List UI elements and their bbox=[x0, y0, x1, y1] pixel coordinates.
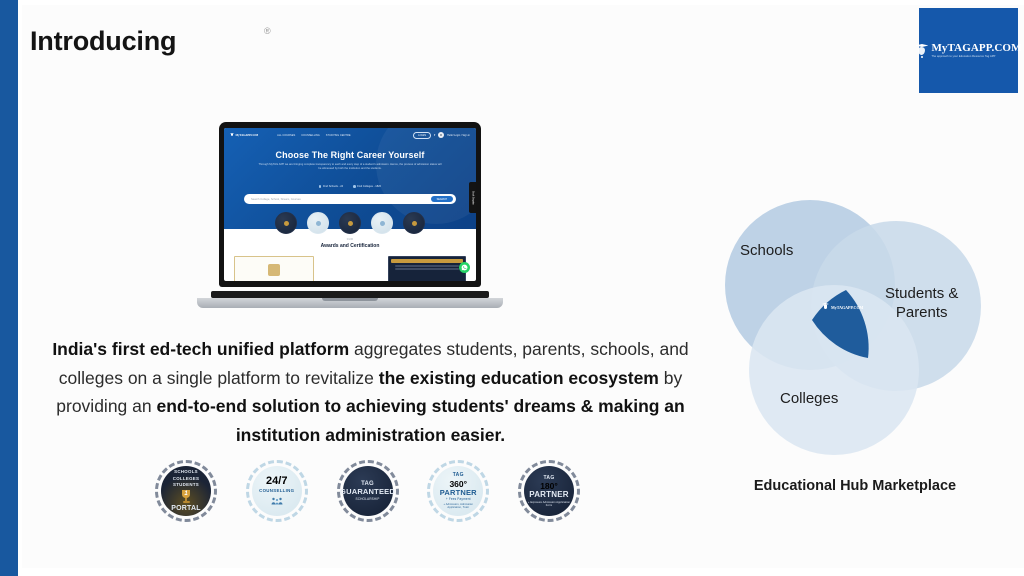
badge3-line3: SCHOLARSHIP bbox=[356, 498, 380, 502]
venn-label-students-parents: Students & Parents bbox=[885, 285, 958, 323]
website-cap-icon bbox=[230, 133, 234, 138]
login-button[interactable]: LOGIN bbox=[413, 132, 431, 139]
venn-graduation-cap-icon bbox=[822, 303, 829, 311]
counselling-people-icon bbox=[271, 496, 283, 506]
website-certificate-cards bbox=[234, 256, 466, 281]
website-badge-2 bbox=[307, 212, 329, 234]
website-awards-section: OUR Awards and Certification bbox=[224, 238, 476, 249]
user-greeting[interactable]: Hello! Login / Sign in bbox=[447, 134, 470, 137]
laptop-mockup: MyTAGAPP.COM ALL COURSES COUNSELLING STU… bbox=[197, 122, 503, 308]
nav-link-studying-centre[interactable]: STUDYING CENTRE bbox=[326, 134, 351, 137]
badge5-line2: PARTNER bbox=[529, 491, 568, 500]
slide-top-edge bbox=[0, 0, 1024, 5]
awards-kicker: OUR bbox=[224, 238, 476, 241]
nav-link-counselling[interactable]: COUNSELLING bbox=[301, 134, 320, 137]
badge5-line1: TAG bbox=[543, 475, 554, 481]
paragraph-segment-bold-2: the existing education ecosystem bbox=[379, 368, 659, 388]
badge4-sub1: + Fees Payment bbox=[446, 498, 471, 502]
graduation-cap-icon bbox=[915, 43, 928, 58]
stat-colleges: Find Colleges - 1820 bbox=[353, 185, 381, 188]
venn-caption: Educational Hub Marketplace bbox=[700, 478, 1010, 494]
badge1-line2: COLLEGES bbox=[173, 476, 200, 482]
venn-svg bbox=[700, 190, 1010, 480]
tag-guaranteed-scholarship-badge: TAG GUARANTEED SCHOLARSHIP bbox=[337, 460, 399, 522]
website-badge-4 bbox=[371, 212, 393, 234]
badge1-line1: SCHOOLS bbox=[174, 469, 198, 475]
left-accent-bar bbox=[0, 0, 18, 576]
laptop-base-shadow bbox=[211, 291, 489, 298]
badge4-line1: TAG bbox=[453, 472, 464, 478]
venn-label-students-line2: Parents bbox=[885, 304, 958, 323]
certification-badge-row: SCHOOLS COLLEGES STUDENTS 1 PORTAL 24/7 … bbox=[155, 460, 580, 522]
badge5-sub1: + Exposure Admission Application Form bbox=[527, 501, 571, 507]
badge-core-4: TAG 360° PARTNER + Fees Payment + Admiss… bbox=[433, 466, 483, 516]
stat-schools: Find Schools - 24 bbox=[319, 185, 343, 188]
slide-canvas: Introducing ® MyTAGAPP.COM The approach … bbox=[0, 0, 1024, 576]
venn-center-logo: MyTAGAPP.COM bbox=[822, 303, 863, 311]
nav-link-all-courses[interactable]: ALL COURSES bbox=[277, 134, 295, 137]
badge1-line3: STUDENTS bbox=[173, 482, 199, 488]
schools-colleges-students-portal-badge: SCHOOLS COLLEGES STUDENTS 1 PORTAL bbox=[155, 460, 217, 522]
page-title: Introducing bbox=[30, 26, 176, 57]
paragraph-segment-bold-3: end-to-end solution to achieving student… bbox=[156, 396, 684, 445]
website-logo-text: MyTAGAPP.COM bbox=[236, 134, 259, 137]
badge4-degree: 360° bbox=[449, 480, 467, 489]
website-badge-3 bbox=[339, 212, 361, 234]
badge4-line2: PARTNER bbox=[440, 489, 477, 497]
website-badge-5 bbox=[403, 212, 425, 234]
website-search-bar[interactable]: Search College, School, Stream, Courses … bbox=[244, 194, 456, 204]
stat-schools-text: Find Schools - 24 bbox=[323, 185, 343, 188]
brand-tagline: The approach to your Education Resource … bbox=[931, 56, 1021, 59]
paragraph-segment-bold-1: India's first ed-tech unified platform bbox=[52, 339, 349, 359]
left-accent-gap bbox=[18, 0, 22, 576]
certificate-card-light bbox=[234, 256, 314, 281]
slide-bottom-edge bbox=[0, 568, 1024, 576]
venn-diagram: Schools Students & Parents Colleges MyTA… bbox=[700, 190, 1010, 480]
hero-paragraph: Through MyTAG APP we are bringing comple… bbox=[258, 163, 442, 171]
registered-trademark-mark: ® bbox=[264, 26, 271, 36]
website-navbar: MyTAGAPP.COM ALL COURSES COUNSELLING STU… bbox=[224, 128, 476, 142]
description-paragraph: India's first ed-tech unified platform a… bbox=[48, 335, 693, 449]
laptop-base bbox=[197, 298, 503, 308]
facebook-icon[interactable]: f bbox=[434, 133, 435, 137]
whatsapp-icon[interactable] bbox=[459, 262, 470, 273]
brand-logo-text: MyTAGAPP.COM The approach to your Educat… bbox=[931, 43, 1021, 59]
badge4-sub2: + Admission, Admission Application, Tuto… bbox=[436, 503, 480, 509]
laptop-lid: MyTAGAPP.COM ALL COURSES COUNSELLING STU… bbox=[219, 122, 481, 287]
website-logo[interactable]: MyTAGAPP.COM bbox=[230, 133, 258, 138]
badge2-line2: COUNSELLING bbox=[259, 488, 294, 494]
hero-headline: Choose The Right Career Yourself bbox=[224, 150, 476, 160]
stat-colleges-text: Find Colleges - 1820 bbox=[357, 185, 381, 188]
badge-core-2: 24/7 COUNSELLING bbox=[252, 466, 302, 516]
venn-label-students-line1: Students & bbox=[885, 285, 958, 304]
website-nav-links: ALL COURSES COUNSELLING STUDYING CENTRE bbox=[277, 134, 350, 137]
brand-logo-inner: MyTAGAPP.COM The approach to your Educat… bbox=[915, 43, 1021, 59]
venn-label-colleges: Colleges bbox=[780, 390, 838, 409]
venn-center-logo-text: MyTAGAPP.COM bbox=[831, 305, 863, 310]
website-badge-row bbox=[224, 212, 476, 234]
tag-360-partner-badge: TAG 360° PARTNER + Fees Payment + Admiss… bbox=[427, 460, 489, 522]
search-placeholder: Search College, School, Stream, Courses bbox=[251, 198, 301, 201]
certificate-card-dark bbox=[388, 256, 466, 281]
brand-logo: MyTAGAPP.COM The approach to your Educat… bbox=[919, 8, 1018, 93]
website-badge-1 bbox=[275, 212, 297, 234]
badge-core-5: TAG 180° PARTNER + Exposure Admission Ap… bbox=[524, 466, 574, 516]
badge5-degree: 180° bbox=[540, 482, 558, 491]
badge1-footer: PORTAL bbox=[171, 505, 200, 513]
avatar[interactable] bbox=[438, 132, 444, 138]
venn-label-schools: Schools bbox=[740, 242, 793, 261]
hero-stats: Find Schools - 24 Find Colleges - 1820 bbox=[224, 185, 476, 188]
search-button[interactable]: SEARCH bbox=[431, 196, 453, 202]
counselling-badge: 24/7 COUNSELLING bbox=[246, 460, 308, 522]
trophy-number-one-icon: 1 bbox=[181, 490, 192, 503]
brand-name: MyTAGAPP.COM bbox=[931, 43, 1021, 54]
badge3-line2: GUARANTEED bbox=[340, 488, 395, 496]
badge-core-3: TAG GUARANTEED SCHOLARSHIP bbox=[343, 466, 393, 516]
book-enquiry-tab[interactable]: Book Enquiry bbox=[469, 182, 476, 213]
website-nav-right: LOGIN f Hello! Login / Sign in bbox=[413, 132, 470, 139]
badge3-line1: TAG bbox=[361, 481, 374, 488]
badge-core-1: SCHOOLS COLLEGES STUDENTS 1 PORTAL bbox=[161, 466, 211, 516]
tag-180-partner-badge: TAG 180° PARTNER + Exposure Admission Ap… bbox=[518, 460, 580, 522]
book-enquiry-label: Book Enquiry bbox=[472, 191, 474, 205]
badge2-big: 24/7 bbox=[266, 476, 287, 487]
awards-heading: Awards and Certification bbox=[224, 243, 476, 249]
laptop-screen: MyTAGAPP.COM ALL COURSES COUNSELLING STU… bbox=[224, 128, 476, 281]
